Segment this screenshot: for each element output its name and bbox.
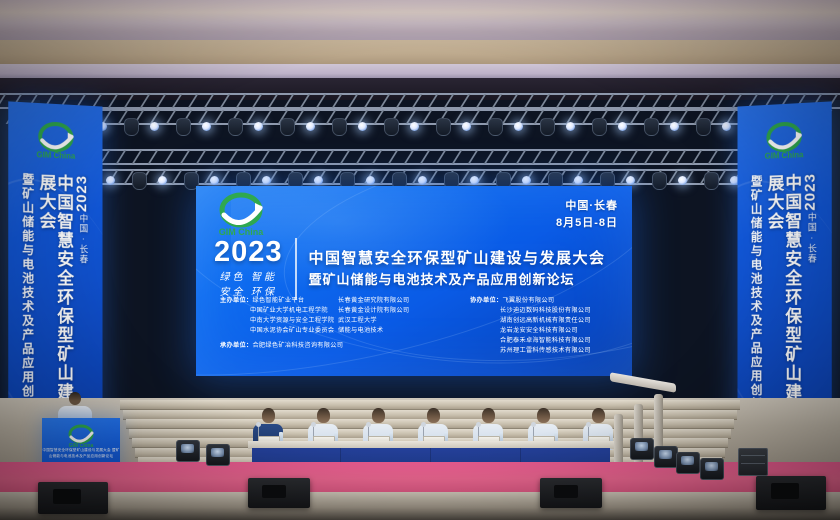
- screen-dates: 8月5日-8日: [556, 215, 618, 232]
- host-row-0: 主办单位：绿色智能矿业平台: [220, 296, 338, 306]
- par-lamp: [574, 176, 583, 185]
- par-lamp: [462, 122, 471, 131]
- par-lamp: [522, 176, 531, 185]
- moving-head-fixture: [132, 172, 147, 190]
- coorg-3: 龙岩龙安安全科技有限公司: [500, 327, 578, 334]
- moving-head-light-3: [630, 438, 654, 460]
- gim-china-logo-banner-left: GIM China: [30, 121, 81, 168]
- panelist-head: [372, 408, 385, 423]
- par-lamp: [626, 176, 635, 185]
- par-lamp: [470, 176, 479, 185]
- title-divider: [295, 238, 297, 300]
- undertaker-label: 承办单位：: [220, 342, 252, 349]
- event-sub-title: 暨矿山储能与电池技术及产品应用创新论坛: [309, 271, 618, 289]
- host-col1-2: 中南大学资源与安全工程学院: [250, 317, 334, 324]
- par-lamp: [202, 122, 211, 131]
- banner-left-year: 2023: [75, 175, 90, 213]
- coorg-row-3: 龙岩龙安安全科技有限公司: [470, 326, 618, 336]
- par-lamp: [410, 122, 419, 131]
- panelist-head: [537, 408, 550, 423]
- banner-right-year: 2023: [803, 173, 819, 211]
- par-lamp: [306, 122, 315, 131]
- screen-title-row: 2023 绿色 智能 安全 环保 中国智慧安全环保型矿山建设与发展大会 暨矿山储…: [214, 238, 618, 300]
- moving-head-light-5: [676, 452, 700, 474]
- truss-lower-front: [40, 148, 800, 166]
- host-col1-2-row: 中南大学资源与安全工程学院: [220, 316, 338, 326]
- par-lamp: [106, 176, 115, 185]
- ceiling: [0, 0, 840, 44]
- moving-head-fixture: [644, 118, 659, 136]
- stage-monitor-center-right: [540, 478, 602, 508]
- moving-head-light-2: [206, 444, 230, 466]
- moving-head-fixture: [332, 118, 347, 136]
- stage-light-row-upper: [40, 118, 800, 138]
- par-lamp: [262, 176, 271, 185]
- banner-right-city: 中国·长春: [806, 213, 815, 265]
- panelist-head: [427, 408, 440, 423]
- coorg-row-4: 合肥泰禾卓海智能科技有限公司: [470, 336, 618, 346]
- coorganizer-label: 协办单位：: [470, 297, 502, 304]
- par-lamp: [670, 122, 679, 131]
- par-lamp: [514, 122, 523, 131]
- moving-head-light-6: [700, 458, 724, 480]
- par-lamp: [678, 176, 687, 185]
- moving-head-light-1: [176, 440, 200, 462]
- banner-left-city: 中国·长春: [78, 214, 87, 265]
- ceiling-beam: [0, 40, 840, 66]
- host-col2-0-row: 长春黄金研究院有限公司: [338, 296, 456, 306]
- host-col2-3: 储能与电池技术: [338, 327, 383, 334]
- screen-location-date: 中国·长春 8月5日-8日: [556, 198, 618, 232]
- moving-head-fixture: [124, 118, 139, 136]
- screen-location: 中国·长春: [556, 198, 618, 215]
- par-lamp: [618, 122, 627, 131]
- moving-head-fixture: [592, 118, 607, 136]
- panelist-head: [592, 408, 605, 423]
- host-label: 主办单位：: [220, 297, 252, 304]
- moving-head-fixture: [384, 118, 399, 136]
- coorg-row-0: 协办单位：飞翼股份有限公司: [470, 296, 618, 306]
- main-led-screen: GIM China 中国·长春 8月5日-8日 2023 绿色 智能 安全 环保…: [196, 186, 632, 376]
- host-col2-2-row: 武汉工程大学: [338, 316, 456, 326]
- host-col1-1-row: 中国矿业大学机电工程学院: [220, 306, 338, 316]
- par-lamp: [722, 122, 731, 131]
- moving-head-fixture: [652, 172, 667, 190]
- par-lamp: [210, 176, 219, 185]
- moving-head-light-4: [654, 446, 678, 468]
- par-lamp: [418, 176, 427, 185]
- organizers-col-2: 长春黄金研究院有限公司 长春黄金设计院有限公司 武汉工程大学 储能与电池技术: [338, 296, 456, 356]
- moving-head-fixture: [228, 118, 243, 136]
- par-lamp: [150, 122, 159, 131]
- organizers-col-3: 协办单位：飞翼股份有限公司 长沙迪迈数码科技股份有限公司 湖南创远高新机械有限责…: [456, 296, 618, 356]
- par-lamp: [566, 122, 575, 131]
- calligraphy-line-1: 绿色 智能: [214, 270, 283, 285]
- organizers-col-1: 主办单位：绿色智能矿业平台 中国矿业大学机电工程学院 中南大学资源与安全工程学院…: [220, 296, 338, 356]
- host-col2-1: 长春黄金设计院有限公司: [338, 307, 409, 314]
- undertaker-row: 承办单位：合肥绿色矿冶科技咨询有限公司: [220, 341, 338, 351]
- stage-monitor-right: [756, 476, 826, 510]
- coorg-row-5: 苏州理工雷科传感技术有限公司: [470, 346, 618, 356]
- coorg-0: 飞翼股份有限公司: [502, 297, 554, 304]
- organizers-block: 主办单位：绿色智能矿业平台 中国矿业大学机电工程学院 中南大学资源与安全工程学院…: [220, 296, 618, 356]
- stage-monitor-left: [38, 482, 108, 514]
- road-case: [738, 448, 768, 476]
- host-col2-3-row: 储能与电池技术: [338, 326, 456, 336]
- event-main-title: 中国智慧安全环保型矿山建设与发展大会: [309, 249, 618, 269]
- moving-head-fixture: [436, 118, 451, 136]
- moving-head-fixture: [696, 118, 711, 136]
- host-col1-3-row: 中国水泥协会矿山专业委员会: [220, 326, 338, 336]
- stage-monitor-center-left: [248, 478, 310, 508]
- moving-head-fixture: [540, 118, 555, 136]
- host-col2-1-row: 长春黄金设计院有限公司: [338, 306, 456, 316]
- coorg-row-2: 湖南创远高新机械有限责任公司: [470, 316, 618, 326]
- svg-text:GIM China: GIM China: [765, 150, 804, 161]
- gim-china-logo-banner-right: GIM China: [759, 121, 810, 168]
- host-col2-2: 武汉工程大学: [338, 317, 377, 324]
- moving-head-fixture: [704, 172, 719, 190]
- undertaker-value: 合肥绿色矿冶科技咨询有限公司: [252, 342, 343, 349]
- conference-stage-photo: GIM China 2023 中国·长春 中国智慧安全环保型矿山建设与发展大会 …: [0, 0, 840, 520]
- moving-head-fixture: [176, 118, 191, 136]
- screen-year-block: 2023 绿色 智能 安全 环保: [214, 238, 283, 300]
- host-col1-0: 绿色智能矿业平台: [252, 297, 304, 304]
- stage-front-edge: [0, 492, 840, 520]
- panelist-head: [262, 408, 275, 423]
- speaker-head: [69, 392, 81, 405]
- svg-text:GIM China: GIM China: [37, 150, 76, 161]
- par-lamp: [358, 122, 367, 131]
- moving-head-fixture: [280, 118, 295, 136]
- host-col1-1: 中国矿业大学机电工程学院: [250, 307, 328, 314]
- par-lamp: [254, 122, 263, 131]
- panelist-head: [317, 408, 330, 423]
- host-col2-0: 长春黄金研究院有限公司: [338, 297, 409, 304]
- moving-head-fixture: [488, 118, 503, 136]
- screen-year: 2023: [214, 238, 283, 267]
- coorg-2: 湖南创远高新机械有限责任公司: [500, 317, 591, 324]
- coorg-row-1: 长沙迪迈数码科技股份有限公司: [470, 306, 618, 316]
- panelist-head: [482, 408, 495, 423]
- par-lamp: [314, 176, 323, 185]
- coorg-4: 合肥泰禾卓海智能科技有限公司: [500, 337, 591, 344]
- host-col1-3: 中国水泥协会矿山专业委员会: [250, 327, 334, 334]
- screen-titles: 中国智慧安全环保型矿山建设与发展大会 暨矿山储能与电池技术及产品应用创新论坛: [309, 249, 618, 288]
- par-lamp: [366, 176, 375, 185]
- coorg-5: 苏州理工雷科传感技术有限公司: [500, 347, 591, 354]
- coorg-1: 长沙迪迈数码科技股份有限公司: [500, 307, 591, 314]
- par-lamp: [158, 176, 167, 185]
